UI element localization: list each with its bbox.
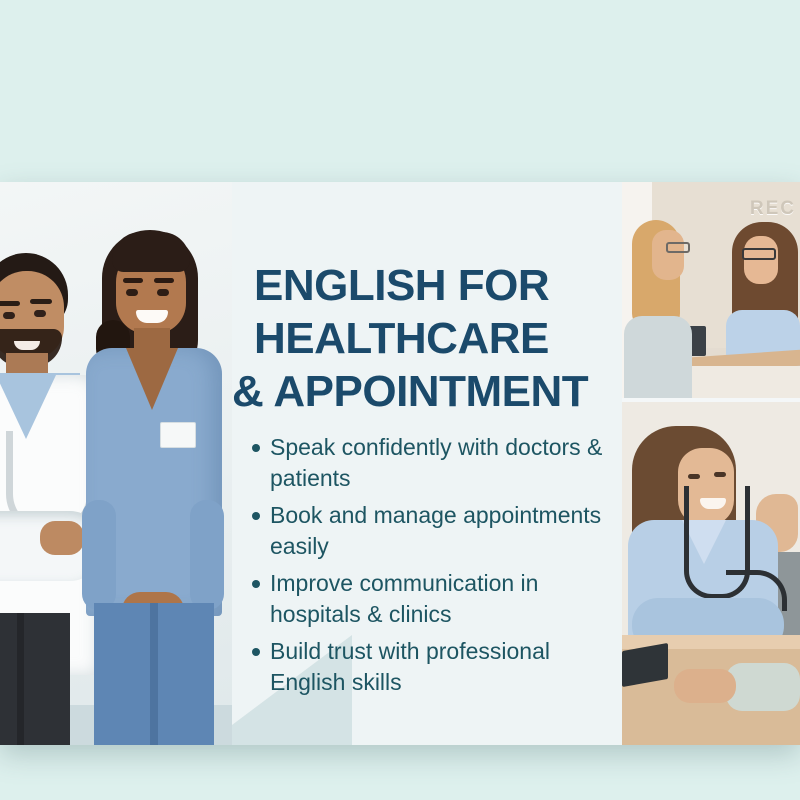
patient-sleeve [726,663,800,711]
photo-doctor-examining-patient [622,402,800,745]
nurse-hairline [112,232,190,272]
nurse-eye-left [126,289,138,296]
doctor-trousers [0,613,70,745]
photo-column-right: REC [622,182,800,745]
visitor-face [652,230,684,280]
nurse-eyebrow-right [154,278,174,283]
list-item: Build trust with professional English sk… [240,636,622,698]
banner-card: ENGLISH FOR HEALTHCARE & APPOINTMENT Spe… [0,182,800,745]
photo-doctor-and-nurse [0,182,232,745]
patient-hand [674,669,736,703]
receptionist-face [744,236,778,284]
list-item: Speak confidently with doctors & patient… [240,432,622,494]
doctor-coat-neckline [0,375,56,439]
doctor-eye-right [34,310,46,317]
title-line-1: ENGLISH FOR [232,259,622,312]
receptionist-glasses-icon [742,248,776,260]
nurse-name-badge [160,422,196,448]
examiner-eye-right [714,472,726,477]
reception-sign-text: REC [750,198,796,220]
visitor-shirt [624,316,692,398]
doctor-eye-left [3,312,15,319]
page-title: ENGLISH FOR HEALTHCARE & APPOINTMENT [232,259,622,418]
visitor-glasses-icon [666,242,690,253]
content-panel: ENGLISH FOR HEALTHCARE & APPOINTMENT Spe… [232,182,622,745]
photo-reception-desk: REC [622,182,800,398]
nurse-eyebrow-left [123,278,143,283]
nurse-figure [78,200,228,745]
benefits-list: Speak confidently with doctors & patient… [240,432,622,704]
poster-canvas: ENGLISH FOR HEALTHCARE & APPOINTMENT Spe… [0,0,800,800]
nurse-eye-right [157,289,169,296]
title-line-3: & APPOINTMENT [232,365,622,418]
list-item: Book and manage appointments easily [240,500,622,562]
list-item: Improve communication in hospitals & cli… [240,568,622,630]
doctor-eyebrow-right [30,299,52,304]
examiner-eye-left [688,474,700,479]
nurse-scrub-neckline [126,348,178,410]
reception-desk-front [678,366,800,398]
doctor-eyebrow-left [0,301,20,306]
nurse-arm-left [82,500,116,610]
nurse-smile [136,310,168,323]
nurse-scrub-trousers [94,603,214,745]
nurse-arm-right [190,500,224,610]
title-line-2: HEALTHCARE [232,312,622,365]
